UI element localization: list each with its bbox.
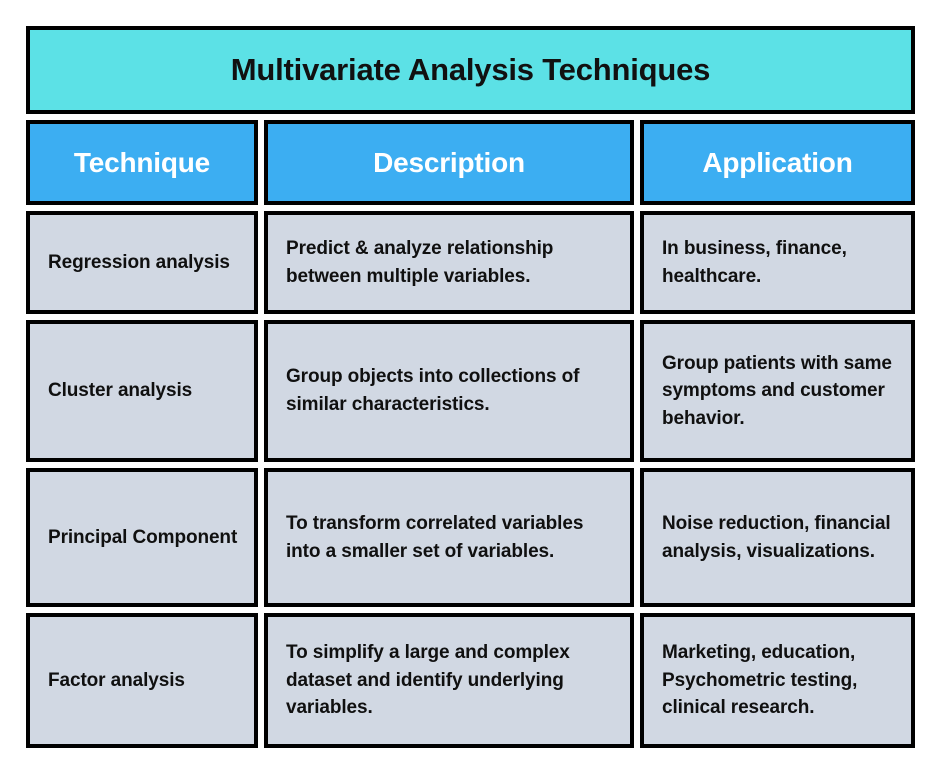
column-header-application-label: Application bbox=[702, 147, 852, 179]
cell-description-text: To transform correlated variables into a… bbox=[268, 510, 630, 565]
column-header-application: Application bbox=[640, 120, 915, 205]
cell-description-text: Predict & analyze relationship between m… bbox=[268, 235, 630, 290]
cell-description: To simplify a large and complex dataset … bbox=[264, 613, 634, 748]
column-header-description: Description bbox=[264, 120, 634, 205]
multivariate-analysis-table: Multivariate Analysis Techniques Techniq… bbox=[26, 26, 915, 744]
cell-technique-text: Factor analysis bbox=[30, 667, 199, 695]
cell-technique: Factor analysis bbox=[26, 613, 258, 748]
cell-technique: Principal Component bbox=[26, 468, 258, 607]
column-header-technique-label: Technique bbox=[74, 147, 210, 179]
column-header-technique: Technique bbox=[26, 120, 258, 205]
cell-application-text: In business, finance, healthcare. bbox=[644, 235, 911, 290]
cell-application-text: Marketing, education, Psychometric testi… bbox=[644, 639, 911, 722]
cell-technique-text: Principal Component bbox=[30, 524, 251, 552]
cell-application-text: Group patients with same symptoms and cu… bbox=[644, 350, 911, 433]
table-row: Regression analysis Predict & analyze re… bbox=[26, 211, 915, 314]
cell-application: Group patients with same symptoms and cu… bbox=[640, 320, 915, 462]
cell-description-text: To simplify a large and complex dataset … bbox=[268, 639, 630, 722]
column-header-description-label: Description bbox=[373, 147, 525, 179]
cell-description-text: Group objects into collections of simila… bbox=[268, 363, 630, 418]
cell-application: In business, finance, healthcare. bbox=[640, 211, 915, 314]
table-row: Cluster analysis Group objects into coll… bbox=[26, 320, 915, 462]
cell-description: To transform correlated variables into a… bbox=[264, 468, 634, 607]
cell-application: Marketing, education, Psychometric testi… bbox=[640, 613, 915, 748]
cell-technique-text: Regression analysis bbox=[30, 249, 244, 277]
cell-technique: Regression analysis bbox=[26, 211, 258, 314]
table-title-band: Multivariate Analysis Techniques bbox=[26, 26, 915, 114]
cell-description: Predict & analyze relationship between m… bbox=[264, 211, 634, 314]
page-title: Multivariate Analysis Techniques bbox=[231, 53, 710, 87]
table-header-row: Technique Description Application bbox=[26, 120, 915, 205]
cell-technique: Cluster analysis bbox=[26, 320, 258, 462]
cell-application: Noise reduction, financial analysis, vis… bbox=[640, 468, 915, 607]
table-row: Factor analysis To simplify a large and … bbox=[26, 613, 915, 748]
cell-description: Group objects into collections of simila… bbox=[264, 320, 634, 462]
cell-application-text: Noise reduction, financial analysis, vis… bbox=[644, 510, 911, 565]
cell-technique-text: Cluster analysis bbox=[30, 377, 206, 405]
table-row: Principal Component To transform correla… bbox=[26, 468, 915, 607]
